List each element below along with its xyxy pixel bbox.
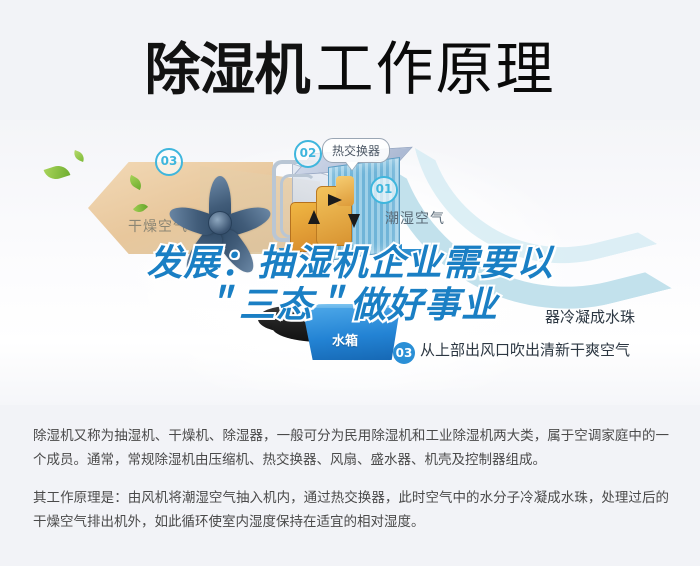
humid-air-label: 潮湿空气 [385, 208, 445, 228]
body-paragraph-1: 除湿机又称为抽湿机、干燥机、除湿器，一般可分为民用除湿机和工业除湿机两大类，属于… [33, 424, 669, 472]
outlet-label: 从上部出风口吹出清新干爽空气 [420, 339, 630, 360]
leaf-icon [72, 150, 86, 162]
flow-arrow-down-icon [348, 214, 360, 228]
badge-02-heat-exchanger: 02 [294, 140, 322, 168]
infographic-page: 除湿机工作原理 干燥空气 [0, 0, 700, 566]
leaf-icon [44, 163, 71, 183]
badge-03-dry-air: 03 [155, 148, 183, 176]
heat-exchanger-callout: 热交换器 [322, 138, 390, 163]
water-tank-label: 水箱 [332, 330, 358, 349]
intake-arrow-icon [382, 244, 402, 262]
fan-illustration [165, 168, 273, 276]
page-title-part1: 除湿机 [144, 38, 309, 103]
badge-01-humid-air: 01 [370, 176, 398, 204]
page-title-part2: 工作原理 [315, 35, 555, 103]
machine-internals [270, 148, 415, 318]
fan-hub [208, 211, 232, 235]
drain-arrow-icon [274, 256, 292, 274]
article-body: 除湿机又称为抽湿机、干燥机、除湿器，一般可分为民用除湿机和工业除湿机两大类，属于… [33, 424, 669, 548]
badge-03-outlet: 03 [393, 342, 415, 364]
page-title: 除湿机工作原理 [0, 22, 700, 106]
flow-arrow-up-icon [308, 210, 320, 224]
dehumidifier-diagram: 干燥空气 [0, 120, 700, 405]
flow-arrow-right-icon [328, 194, 342, 206]
body-paragraph-2: 其工作原理是：由风机将潮湿空气抽入机内，通过热交换器，此时空气中的水分子冷凝成水… [33, 486, 669, 534]
condensation-label: 器冷凝成水珠 [545, 306, 635, 327]
